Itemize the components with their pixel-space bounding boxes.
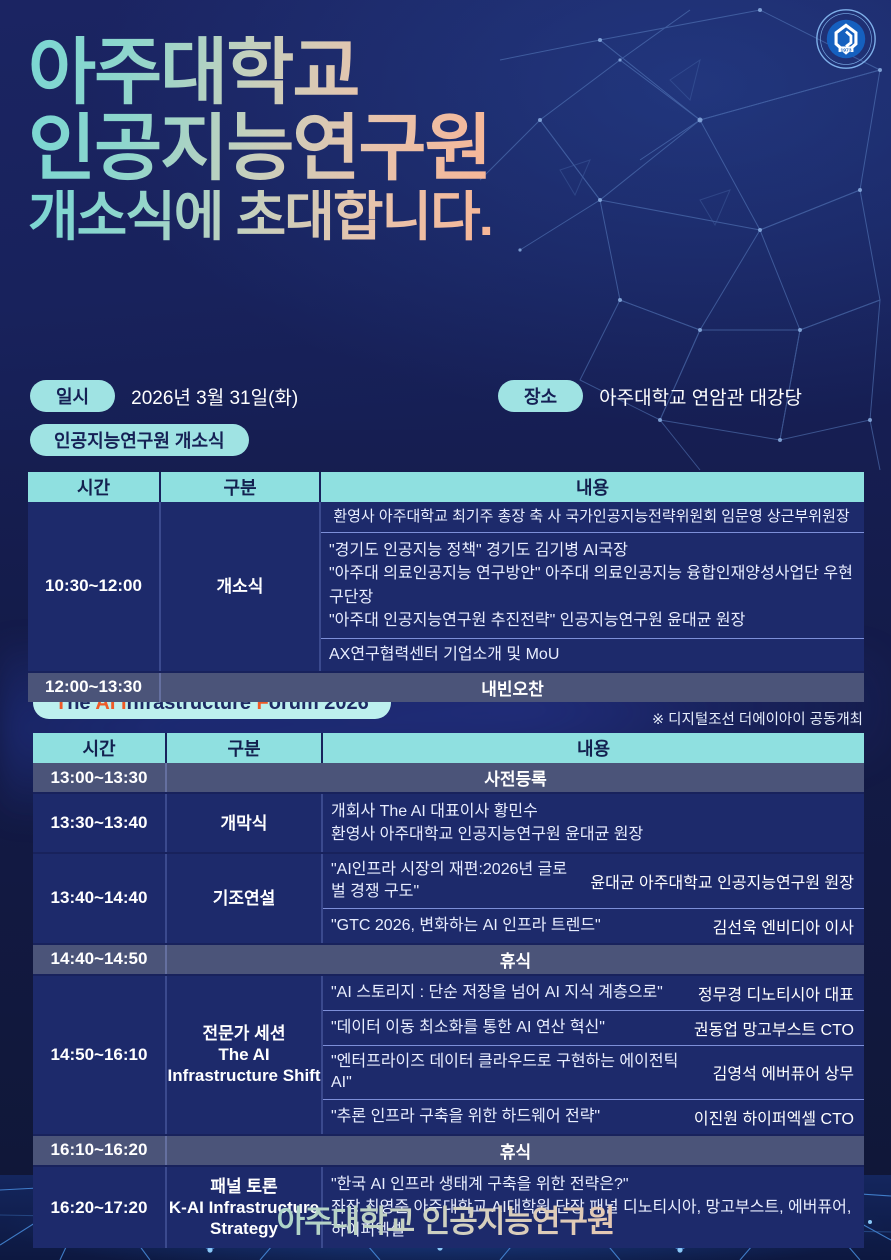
session-talk: "데이터 이동 최소화를 통한 AI 연산 혁신"권동업 망고부스트 CTO bbox=[323, 1011, 864, 1046]
cell-time: 16:10~16:20 bbox=[33, 1136, 166, 1165]
poster-root: 1973 아주대학교 인공지능연구원 개소식에 초대합니다. 일시 2026년 … bbox=[0, 0, 891, 1260]
col-header-content: 내용 bbox=[320, 472, 864, 502]
kind-line: 기조연설 bbox=[167, 888, 321, 909]
cell-content: 개회사 The AI 대표이사 황민수환영사 아주대학교 인공지능연구원 윤대균… bbox=[322, 794, 864, 852]
talk-speaker: 정무경 디노티시아 대표 bbox=[686, 981, 854, 1005]
session-lines: "경기도 인공지능 정책" 경기도 김기병 AI국장"아주대 의료인공지능 연구… bbox=[321, 533, 864, 639]
cell-time: 13:30~13:40 bbox=[33, 794, 166, 852]
session-talk: "AI 스토리지 : 단순 저장을 넘어 AI 지식 계층으로"정무경 디노티시… bbox=[323, 976, 864, 1011]
cell-time: 14:50~16:10 bbox=[33, 976, 166, 1134]
section-title-opening-ceremony: 인공지능연구원 개소식 bbox=[30, 424, 249, 456]
session-talk: "AI인프라 시장의 재편:2026년 글로벌 경쟁 구도"윤대균 아주대학교 … bbox=[323, 854, 864, 908]
date-group: 일시 2026년 3월 31일(화) bbox=[30, 380, 298, 412]
date-label-pill: 일시 bbox=[30, 380, 115, 412]
session-line: "아주대 의료인공지능 연구방안" 아주대 의료인공지능 융합인재양성사업단 우… bbox=[329, 562, 856, 608]
table-row: 14:50~16:10전문가 세션The AIInfrastructure Sh… bbox=[33, 976, 864, 1134]
table-row-break: 14:40~14:50휴식 bbox=[33, 945, 864, 974]
kind-line: 전문가 세션 bbox=[167, 1023, 321, 1044]
session-lines: 개회사 The AI 대표이사 황민수환영사 아주대학교 인공지능연구원 윤대균… bbox=[323, 794, 864, 852]
cell-time: 13:40~14:40 bbox=[33, 854, 166, 942]
date-value: 2026년 3월 31일(화) bbox=[131, 383, 298, 410]
talk-title: "AI인프라 시장의 재편:2026년 글로벌 경쟁 구도" bbox=[331, 859, 578, 902]
talk-speaker: 김선욱 엔비디아 이사 bbox=[701, 914, 854, 938]
cell-kind: 기조연설 bbox=[166, 854, 322, 942]
event-meta: 일시 2026년 3월 31일(화) 장소 아주대학교 연암관 대강당 bbox=[30, 380, 865, 414]
table-header-row: 시간 구분 내용 bbox=[33, 733, 864, 763]
col-header-content: 내용 bbox=[322, 733, 864, 763]
col-header-kind: 구분 bbox=[166, 733, 322, 763]
talk-title: "추론 인프라 구축을 위한 하드웨어 전략" bbox=[331, 1106, 682, 1128]
place-value: 아주대학교 연암관 대강당 bbox=[599, 383, 802, 410]
cell-time: 14:40~14:50 bbox=[33, 945, 166, 974]
place-group: 장소 아주대학교 연암관 대강당 bbox=[498, 380, 802, 412]
session-talk: "엔터프라이즈 데이터 클라우드로 구현하는 에이전틱 AI"김영석 에버퓨어 … bbox=[323, 1046, 864, 1100]
note-text: 환영사 아주대학교 최기주 총장 축 사 국가인공지능전략위원회 임문영 상근부… bbox=[329, 507, 854, 527]
session-line: "경기도 인공지능 정책" 경기도 김기병 AI국장 bbox=[329, 539, 856, 562]
table-row-break: 13:00~13:30사전등록 bbox=[33, 763, 864, 792]
cell-time: 13:00~13:30 bbox=[33, 763, 166, 792]
cell-break-label: 휴식 bbox=[166, 1136, 864, 1165]
cell-time: 10:30~12:00 bbox=[28, 502, 160, 671]
kind-line: Infrastructure Shift bbox=[167, 1065, 321, 1086]
cell-break-label: 휴식 bbox=[166, 945, 864, 974]
schedule-table-forum: 시간 구분 내용 13:00~13:30사전등록13:30~13:40개막식개회… bbox=[33, 733, 864, 1248]
cell-content: 환영사 아주대학교 최기주 총장 축 사 국가인공지능전략위원회 임문영 상근부… bbox=[320, 502, 864, 671]
table-row: 13:30~13:40개막식개회사 The AI 대표이사 황민수환영사 아주대… bbox=[33, 794, 864, 852]
page-title: 아주대학교 인공지능연구원 개소식에 초대합니다. bbox=[28, 36, 492, 243]
cell-kind: 개막식 bbox=[166, 794, 322, 852]
table-header-row: 시간 구분 내용 bbox=[28, 472, 864, 502]
talk-title: "데이터 이동 최소화를 통한 AI 연산 혁신" bbox=[331, 1017, 682, 1039]
table-row-break: 16:10~16:20휴식 bbox=[33, 1136, 864, 1165]
session-note: AX연구협력센터 기업소개 및 MoU bbox=[321, 639, 864, 671]
cohost-note: ※ 디지털조선 더에이아이 공동개최 bbox=[652, 708, 863, 729]
col-header-kind: 구분 bbox=[160, 472, 320, 502]
cell-break-label: 사전등록 bbox=[166, 763, 864, 792]
talk-speaker: 이진원 하이퍼엑셀 CTO bbox=[682, 1105, 854, 1129]
place-label-pill: 장소 bbox=[498, 380, 583, 412]
table-row: 10:30~12:00개소식환영사 아주대학교 최기주 총장 축 사 국가인공지… bbox=[28, 502, 864, 671]
session-talk: "GTC 2026, 변화하는 AI 인프라 트렌드"김선욱 엔비디아 이사 bbox=[323, 909, 864, 943]
session-line: "한국 AI 인프라 생태계 구축을 위한 전략은?" bbox=[331, 1173, 856, 1196]
cell-kind: 전문가 세션The AIInfrastructure Shift bbox=[166, 976, 322, 1134]
headline-line-3: 개소식에 초대합니다. bbox=[28, 190, 492, 243]
talk-speaker: 윤대균 아주대학교 인공지능연구원 원장 bbox=[578, 869, 854, 893]
cell-time: 12:00~13:30 bbox=[28, 673, 160, 702]
svg-text:1973: 1973 bbox=[840, 47, 851, 53]
ajou-university-logo-icon: 1973 bbox=[815, 8, 877, 70]
session-line: 환영사 아주대학교 인공지능연구원 윤대균 원장 bbox=[331, 823, 856, 846]
cell-break-label: 내빈오찬 bbox=[160, 673, 864, 702]
talk-title: "엔터프라이즈 데이터 클라우드로 구현하는 에이전틱 AI" bbox=[331, 1051, 701, 1094]
session-talk: "추론 인프라 구축을 위한 하드웨어 전략"이진원 하이퍼엑셀 CTO bbox=[323, 1100, 864, 1134]
session-line: "아주대 인공지능연구원 추진전략" 인공지능연구원 윤대균 원장 bbox=[329, 609, 856, 632]
cell-content: "AI인프라 시장의 재편:2026년 글로벌 경쟁 구도"윤대균 아주대학교 … bbox=[322, 854, 864, 942]
talk-speaker: 권동업 망고부스트 CTO bbox=[682, 1016, 854, 1040]
talk-title: "GTC 2026, 변화하는 AI 인프라 트렌드" bbox=[331, 915, 701, 937]
kind-line: 개막식 bbox=[167, 813, 321, 834]
talk-title: "AI 스토리지 : 단순 저장을 넘어 AI 지식 계층으로" bbox=[331, 982, 686, 1004]
table-row-break: 12:00~13:30내빈오찬 bbox=[28, 673, 864, 702]
headline-line-2: 인공지능연구원 bbox=[28, 112, 492, 184]
session-note: 환영사 아주대학교 최기주 총장 축 사 국가인공지능전략위원회 임문영 상근부… bbox=[321, 502, 864, 533]
cell-content: "AI 스토리지 : 단순 저장을 넘어 AI 지식 계층으로"정무경 디노티시… bbox=[322, 976, 864, 1134]
session-line: 개회사 The AI 대표이사 황민수 bbox=[331, 800, 856, 823]
col-header-time: 시간 bbox=[33, 733, 166, 763]
table-row: 13:40~14:40기조연설"AI인프라 시장의 재편:2026년 글로벌 경… bbox=[33, 854, 864, 942]
kind-line: The AI bbox=[167, 1044, 321, 1065]
headline-line-1: 아주대학교 bbox=[28, 36, 492, 108]
schedule-table-opening: 시간 구분 내용 10:30~12:00개소식환영사 아주대학교 최기주 총장 … bbox=[28, 472, 864, 702]
note-text: AX연구협력센터 기업소개 및 MoU bbox=[329, 644, 854, 666]
talk-speaker: 김영석 에버퓨어 상무 bbox=[701, 1060, 854, 1084]
footer-title: 아주대학교 인공지능연구원 bbox=[0, 1196, 891, 1241]
cell-kind: 개소식 bbox=[160, 502, 320, 671]
col-header-time: 시간 bbox=[28, 472, 160, 502]
kind-line: 패널 토론 bbox=[167, 1176, 321, 1197]
kind-line: 개소식 bbox=[161, 576, 319, 597]
